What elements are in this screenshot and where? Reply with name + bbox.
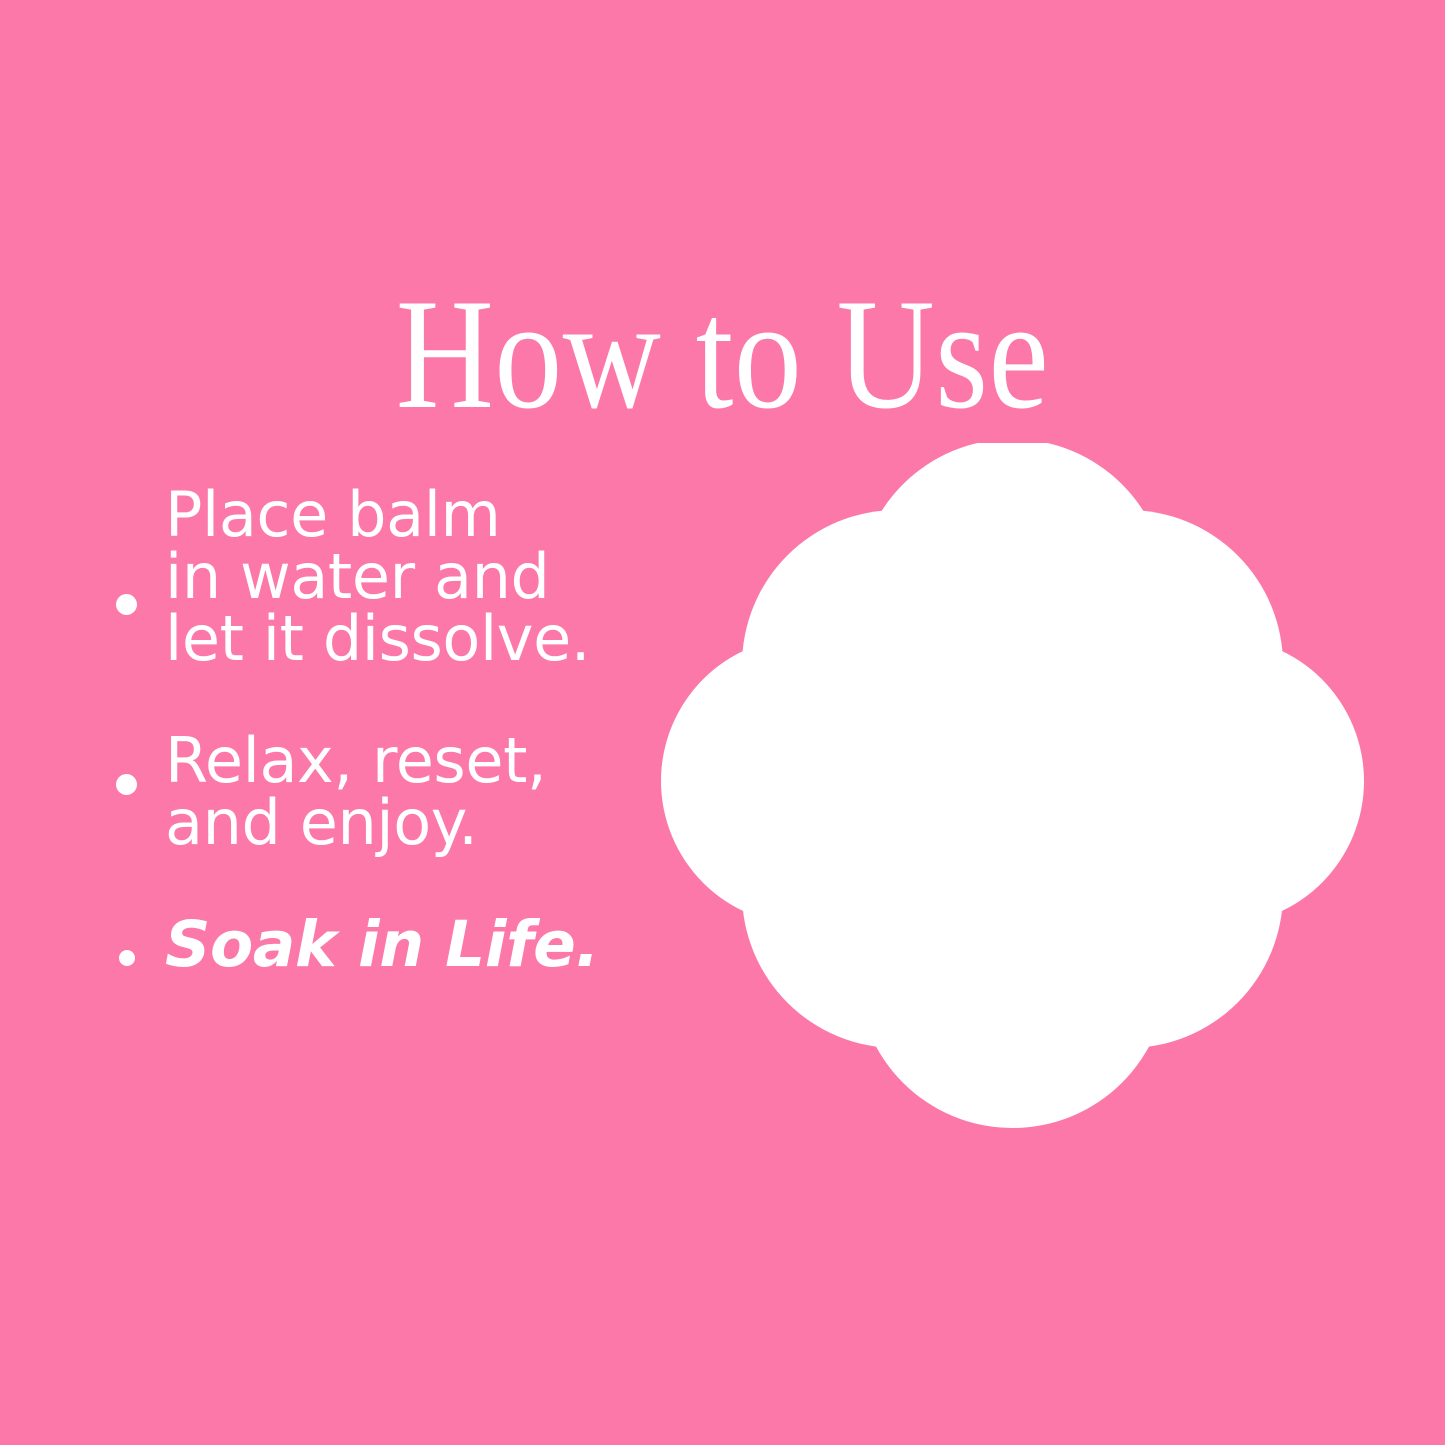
step-text: Place balm in water and let it dissolve.: [165, 484, 590, 670]
product-photo: [645, 443, 1380, 1178]
page-title: How to Use: [101, 272, 1344, 438]
steps-list: Place balm in water and let it dissolve.…: [88, 484, 648, 976]
list-item: Relax, reset, and enjoy.: [88, 730, 648, 854]
list-item: Soak in Life.: [88, 914, 648, 976]
bullet-icon: [88, 730, 165, 795]
step-text: Relax, reset, and enjoy.: [165, 730, 546, 854]
poster-canvas: How to Use Place balm in water and let i…: [0, 0, 1445, 1445]
bullet-icon: [88, 484, 165, 615]
flower-white-border: [661, 443, 1364, 1128]
flower-photo-svg: [645, 443, 1380, 1178]
list-item: Place balm in water and let it dissolve.: [88, 484, 648, 670]
step-text: Soak in Life.: [165, 914, 599, 976]
bullet-icon: [88, 914, 165, 966]
